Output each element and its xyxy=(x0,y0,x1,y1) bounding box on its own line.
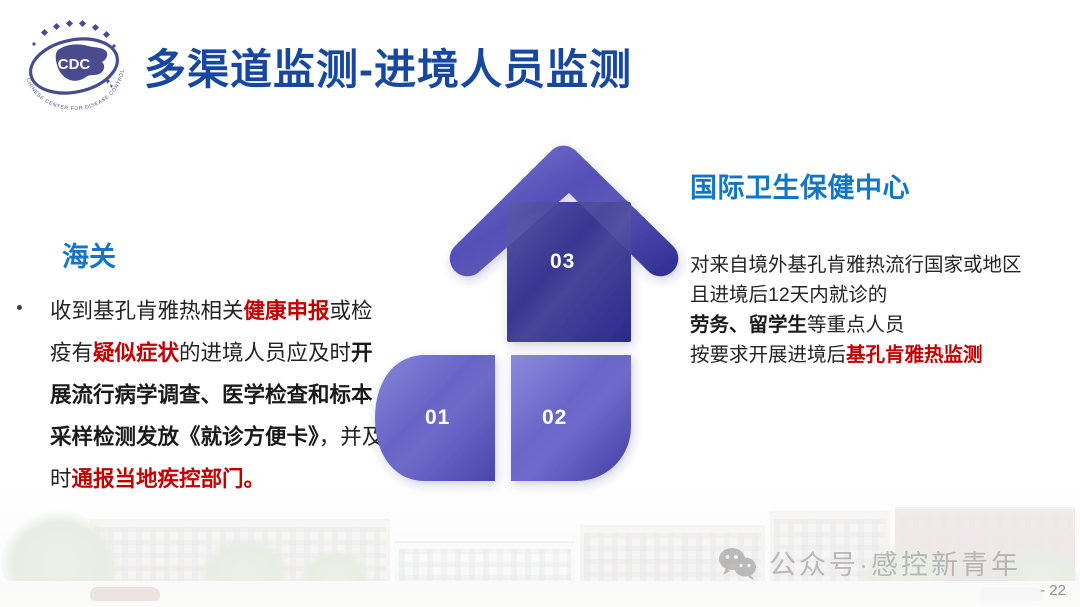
ihc-line-1: 对来自境外基孔肯雅热流行国家或地区 xyxy=(690,250,1080,280)
tree-2 xyxy=(200,537,290,607)
ihc-line-4: 按要求开展进境后基孔肯雅热监测 xyxy=(690,340,1080,370)
arrow-infographic: 03 01 02 xyxy=(383,140,683,500)
wechat-icon xyxy=(718,546,758,580)
ihc-l2-s1: 且进境后12天内就诊的 xyxy=(690,284,887,306)
wechat-watermark: 公众号·感控新青年 xyxy=(718,543,1021,582)
logo-acronym: CDC xyxy=(58,56,91,73)
building-1 xyxy=(90,519,390,599)
tree-4 xyxy=(860,545,950,607)
ihc-body: 对来自境外基孔肯雅热流行国家或地区 且进境后12天内就诊的 劳务、留学生等重点人… xyxy=(690,250,1080,370)
ihc-l4-s2: 基孔肯雅热监测 xyxy=(846,344,983,366)
customs-bullet-row: 收到基孔肯雅热相关健康申报或检疫有疑似症状的进境人员应及时开展流行病学调查、医学… xyxy=(0,290,400,500)
building-3 xyxy=(580,525,765,599)
arrow-label-01: 01 xyxy=(425,406,450,430)
tree-1 xyxy=(0,511,120,607)
ihc-l4-s1: 按要求开展进境后 xyxy=(690,344,846,366)
ihc-line-3: 劳务、留学生等重点人员 xyxy=(690,310,1080,340)
seg-5: 的进境人员应及时 xyxy=(179,341,351,365)
right-panel: 国际卫生保健中心 对来自境外基孔肯雅热流行国家或地区 且进境后12天内就诊的 劳… xyxy=(690,166,1080,370)
ihc-l3-s2: 等重点人员 xyxy=(807,314,905,336)
seg-2: 健康申报 xyxy=(244,299,330,323)
building-4 xyxy=(770,511,890,599)
tree-3 xyxy=(300,549,370,607)
customs-heading: 海关 xyxy=(62,244,400,271)
left-panel: 海关 收到基孔肯雅热相关健康申报或检疫有疑似症状的进境人员应及时开展流行病学调查… xyxy=(0,244,400,500)
watermark-text: 公众号·感控新青年 xyxy=(769,543,1021,582)
arrow-block-02 xyxy=(511,355,631,481)
customs-bullet-text: 收到基孔肯雅热相关健康申报或检疫有疑似症状的进境人员应及时开展流行病学调查、医学… xyxy=(50,290,390,500)
road xyxy=(0,581,1080,607)
ihc-line-2: 且进境后12天内就诊的 xyxy=(690,280,1080,310)
car-1 xyxy=(90,587,160,601)
seg-8: 通报当地疾控部门。 xyxy=(72,467,266,491)
sky-gradient xyxy=(0,487,1080,607)
page-number: - 22 xyxy=(1040,582,1066,599)
ihc-l1-s1: 对来自境外基孔肯雅热流行国家或地区 xyxy=(690,254,1022,276)
bullet-dot-icon xyxy=(17,305,22,310)
china-cdc-logo: CDC CHINESE CENTER FOR DISEASE CONTROL A… xyxy=(14,16,134,110)
seg-1: 收到基孔肯雅热相关 xyxy=(50,299,244,323)
arrow-label-03: 03 xyxy=(550,250,575,274)
arrow-label-02: 02 xyxy=(542,406,567,430)
seg-4: 疑似症状 xyxy=(93,341,179,365)
ihc-heading: 国际卫生保健中心 xyxy=(690,166,1080,205)
arrow-block-03 xyxy=(450,146,679,342)
building-2 xyxy=(395,541,575,599)
slide-canvas: CDC CHINESE CENTER FOR DISEASE CONTROL A… xyxy=(0,0,1080,607)
campus-background-photo xyxy=(0,487,1080,607)
car-2 xyxy=(980,587,1042,601)
ihc-l3-s1: 劳务、留学生 xyxy=(690,314,807,336)
page-title: 多渠道监测-进境人员监测 xyxy=(144,36,632,97)
